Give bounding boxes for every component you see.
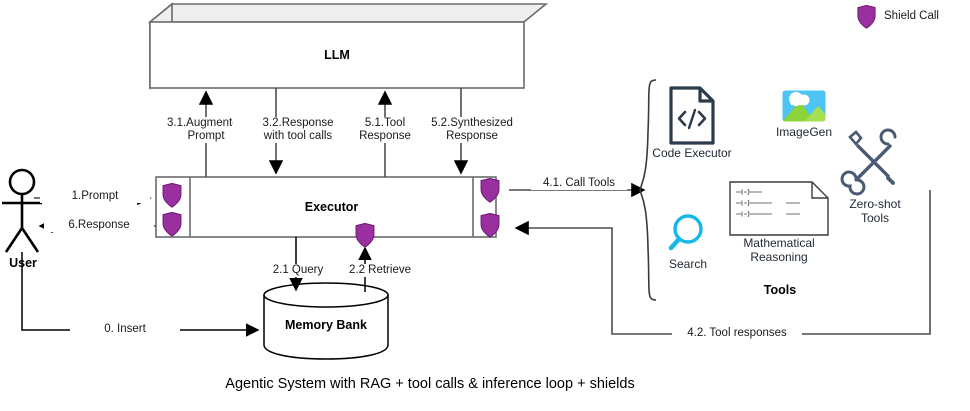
math-document-icon <box>730 182 828 235</box>
wrench-screwdriver-icon <box>842 130 895 194</box>
user-label: User <box>0 256 46 270</box>
tools-group-label: Tools <box>720 283 840 297</box>
edge-label-call-tools: 4.1. Call Tools <box>531 177 627 190</box>
user-actor <box>2 170 42 252</box>
tool-label-mathematical-reasoning: Mathematical Reasoning <box>724 236 834 264</box>
edge-label-retrieve: 2.2 Retrieve <box>334 264 426 277</box>
memory-bank-label: Memory Bank <box>264 318 388 332</box>
edge-label-response: 6.Response <box>44 219 154 232</box>
shield-legend-icon <box>858 5 875 28</box>
edge-label-synthesized-response: 5.2.Synthesized Response <box>417 117 527 143</box>
tool-label-zero-shot-tools: Zero-shot Tools <box>836 197 914 225</box>
tool-label-search: Search <box>638 257 738 271</box>
tool-label-imagegen: ImageGen <box>754 125 854 139</box>
shield-icon <box>356 223 374 247</box>
llm-label: LLM <box>150 48 524 62</box>
code-document-icon <box>671 88 713 143</box>
edge-label-tool-responses: 4.2. Tool responses <box>672 327 802 340</box>
executor-label: Executor <box>190 200 473 214</box>
llm-node <box>150 4 546 88</box>
diagram-caption: Agentic System with RAG + tool calls & i… <box>0 376 860 392</box>
diagram-canvas: LLM Executor Memory Bank User Tools 1.Pr… <box>0 0 970 411</box>
edge-label-insert: 0. Insert <box>70 323 180 336</box>
edge-label-prompt: 1.Prompt <box>40 190 150 203</box>
edge-insert <box>22 252 258 330</box>
legend-shield-label: Shield Call <box>884 10 939 22</box>
image-icon <box>782 90 832 122</box>
tool-label-code-executor: Code Executor <box>642 146 742 160</box>
edge-label-query: 2.1 Query <box>256 264 340 277</box>
magnifier-icon <box>671 216 701 248</box>
